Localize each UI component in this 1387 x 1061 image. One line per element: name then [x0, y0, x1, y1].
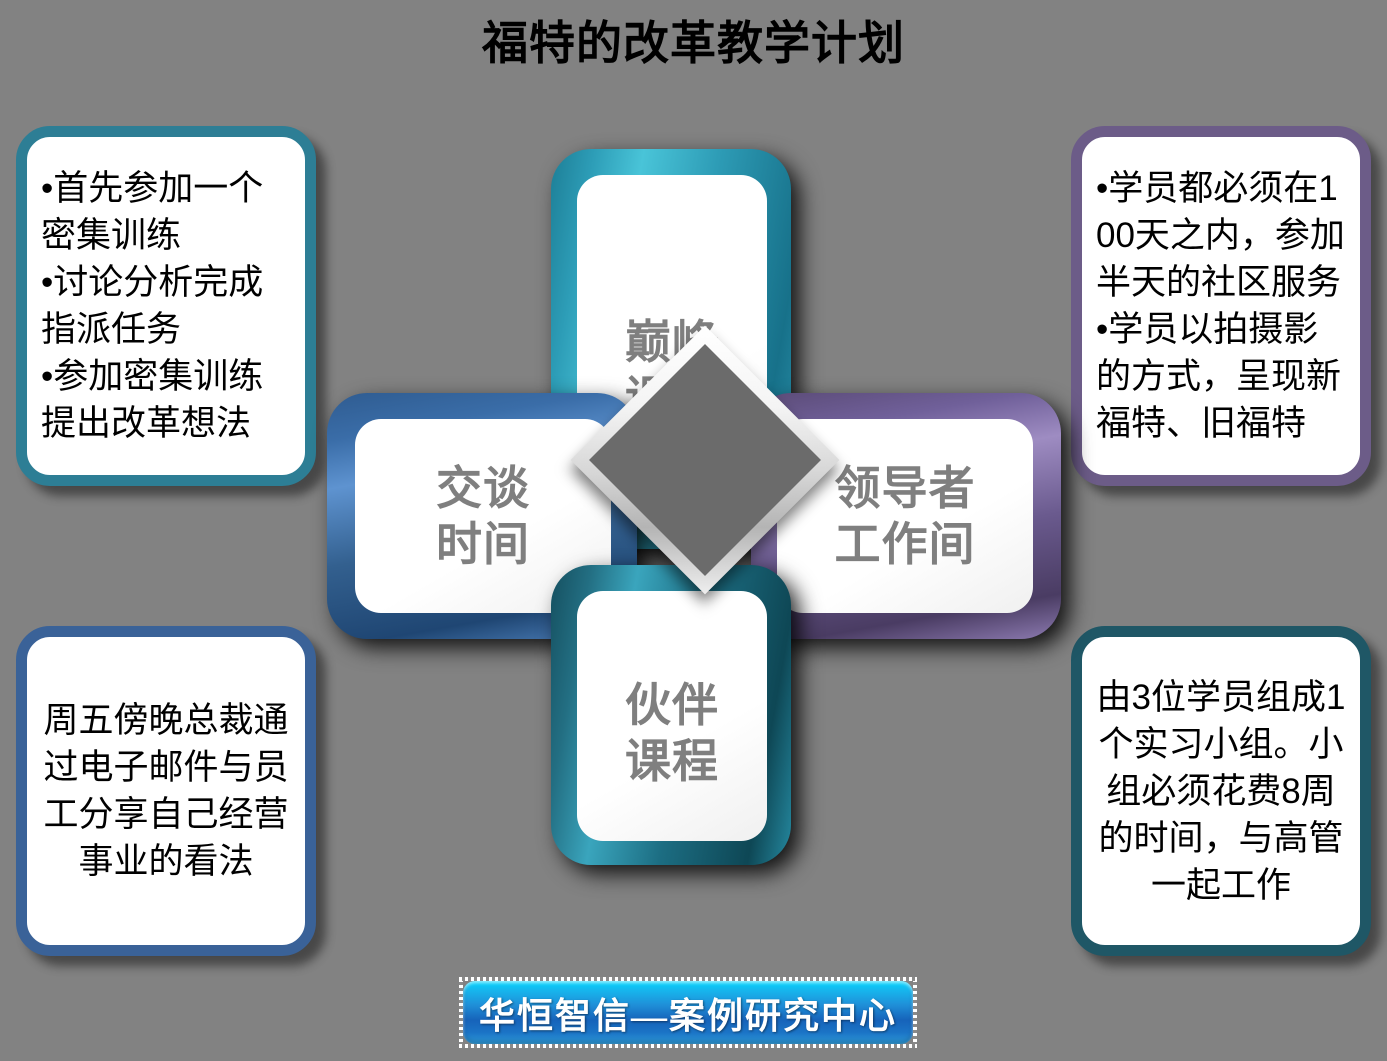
callout-box-bottom-left[interactable]: 周五傍晚总裁通过电子邮件与员工分享自己经营事业的看法	[16, 626, 316, 956]
callout-box-bottom-right[interactable]: 由3位学员组成1个实习小组。小组必须花费8周的时间，与高管一起工作	[1071, 626, 1371, 956]
page-title: 福特的改革教学计划	[0, 14, 1387, 72]
cross-arm-left-label: 交谈 时间	[436, 460, 530, 572]
footer-banner[interactable]: 华恒智信—案例研究中心	[455, 973, 921, 1052]
cross-arm-bottom-label: 伙伴 课程	[625, 677, 719, 789]
callout-text-bottom-right: 由3位学员组成1个实习小组。小组必须花费8周的时间，与高管一起工作	[1082, 674, 1360, 909]
footer-banner-surface: 华恒智信—案例研究中心	[463, 981, 913, 1044]
callout-box-top-left[interactable]: •首先参加一个密集训练 •讨论分析完成指派任务 •参加密集训练提出改革想法	[16, 126, 316, 486]
cross-arm-bottom-inner: 伙伴 课程	[577, 591, 767, 841]
callout-text-top-left: •首先参加一个密集训练 •讨论分析完成指派任务 •参加密集训练提出改革想法	[27, 165, 305, 447]
cross-arm-right-label: 领导者 工作间	[835, 460, 976, 572]
callout-text-bottom-left: 周五傍晚总裁通过电子邮件与员工分享自己经营事业的看法	[27, 697, 305, 885]
callout-box-top-right[interactable]: •学员都必须在100天之内，参加半天的社区服务 •学员以拍摄影的方式，呈现新福特…	[1071, 126, 1371, 486]
cross-arm-bottom[interactable]: 伙伴 课程	[551, 565, 791, 865]
callout-text-top-right: •学员都必须在100天之内，参加半天的社区服务 •学员以拍摄影的方式，呈现新福特…	[1082, 165, 1360, 447]
footer-banner-label: 华恒智信—案例研究中心	[479, 987, 897, 1039]
